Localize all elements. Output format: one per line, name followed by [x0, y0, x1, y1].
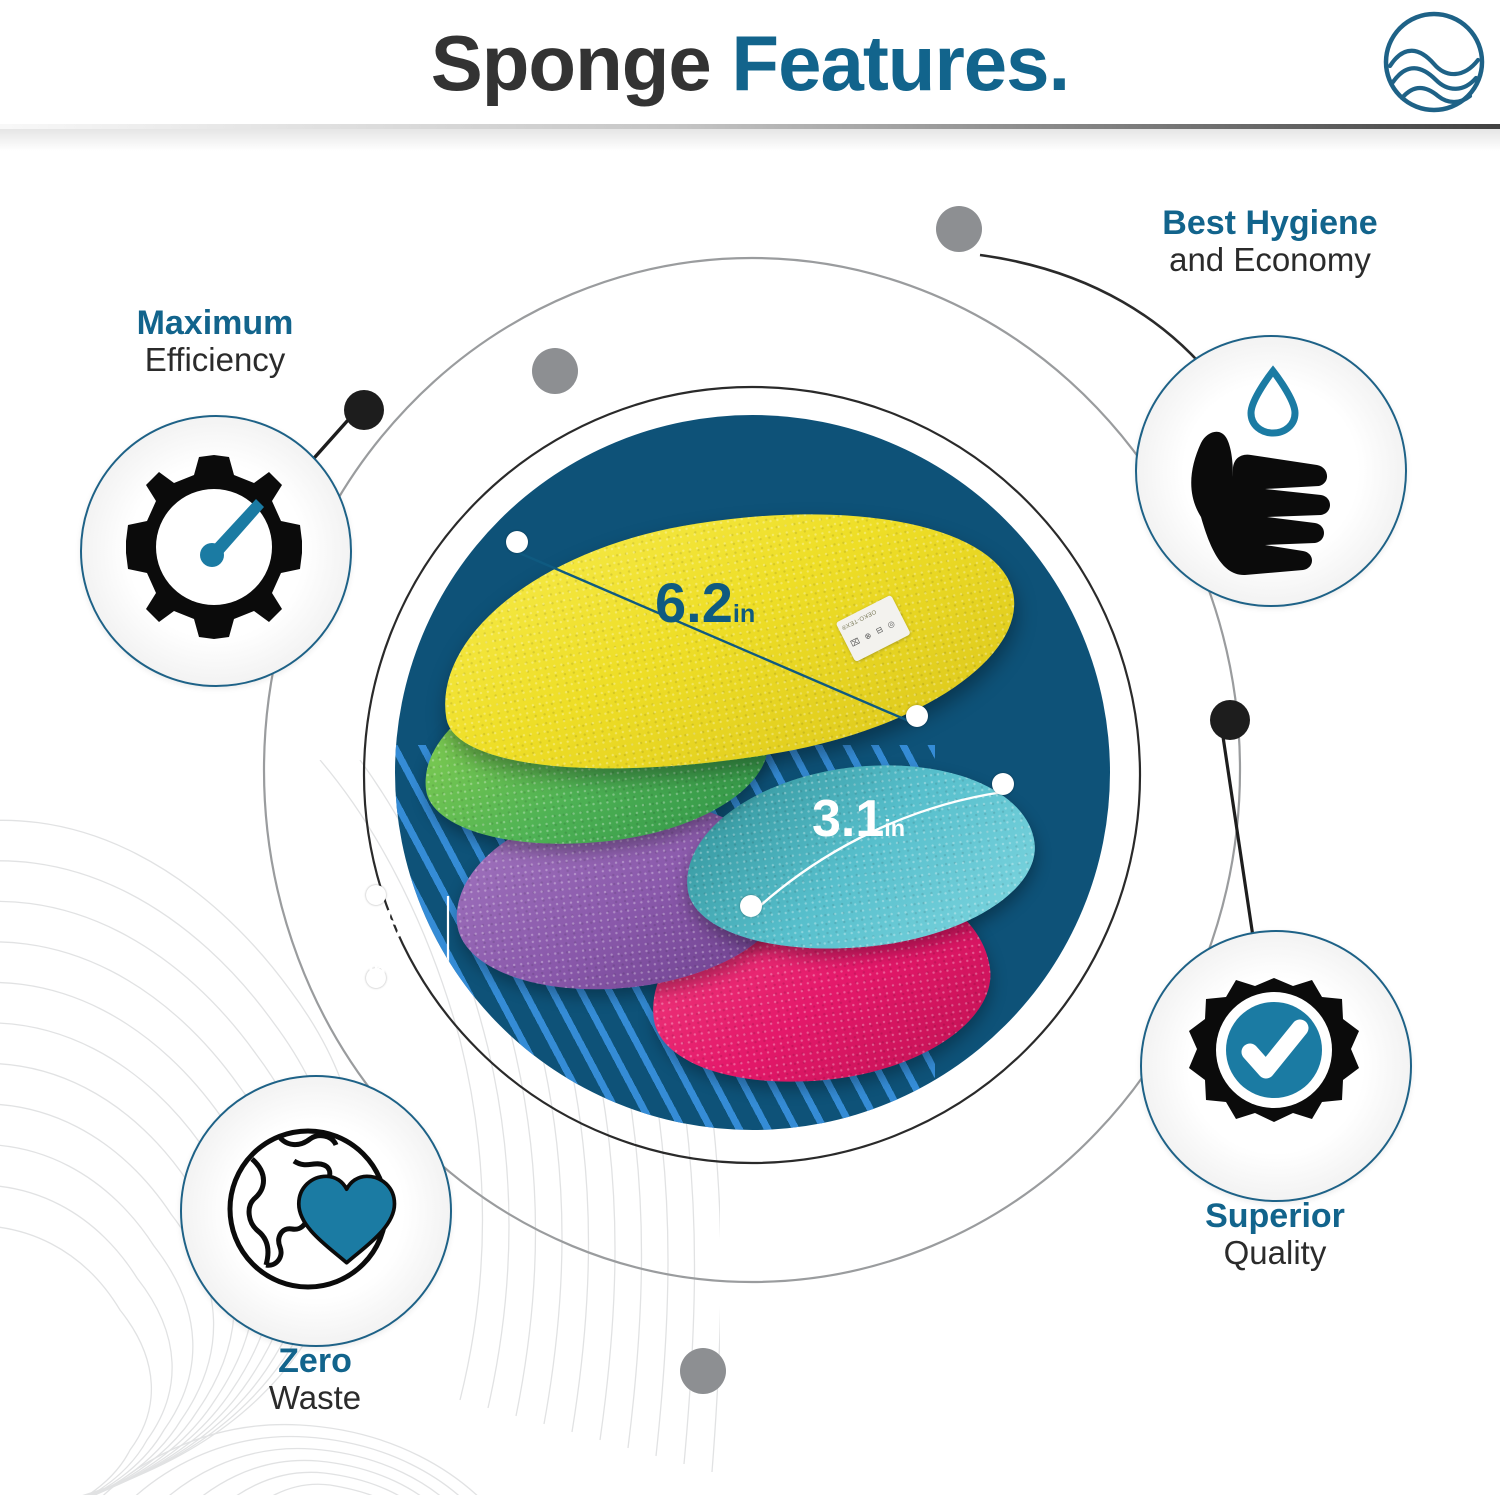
dimension-dot-length-end [906, 705, 928, 727]
infographic-canvas: Sponge Features. [0, 0, 1500, 1495]
page-title: Sponge Features. [0, 8, 1500, 118]
connector-dot-top-ring [532, 348, 578, 394]
dimension-label-length: 6.2in [655, 575, 755, 631]
title-word-sponge: Sponge [431, 19, 732, 107]
wave-circle-logo [1380, 8, 1488, 116]
connector-dot-efficiency [344, 390, 384, 430]
dimension-label-width: 3.1in [812, 793, 905, 845]
connector-dot-bottom-ring [680, 1348, 726, 1394]
feature-node-zero-waste[interactable]: Zero Waste [180, 1075, 448, 1343]
feature-node-maximum-efficiency[interactable]: Maximum Efficiency [80, 415, 348, 683]
header-divider-shadow [0, 129, 1500, 151]
feature-label-hygiene: Best Hygiene and Economy [1090, 205, 1450, 277]
feature-label-zero-waste: Zero Waste [155, 1343, 475, 1415]
feature-label-efficiency: Maximum Efficiency [55, 305, 375, 377]
feature-node-superior-quality[interactable]: Superior Quality [1140, 930, 1408, 1198]
dimension-label-thickness: 0.8in [349, 904, 405, 984]
dimension-dot-length-start [506, 531, 528, 553]
title-word-features: Features. [731, 19, 1069, 107]
gear-gauge-icon [80, 415, 348, 683]
feature-node-best-hygiene[interactable]: Best Hygiene and Economy [1135, 335, 1403, 603]
dimension-dot-width-end [992, 773, 1014, 795]
dimension-dot-width-start [740, 895, 762, 917]
globe-heart-icon [180, 1075, 448, 1343]
badge-check-icon [1140, 930, 1408, 1198]
hand-waterdrop-icon [1135, 335, 1403, 603]
connector-dot-hygiene [936, 206, 982, 252]
header-bar: Sponge Features. [0, 0, 1500, 125]
connector-dot-quality [1210, 700, 1250, 740]
feature-label-quality: Superior Quality [1115, 1198, 1435, 1270]
